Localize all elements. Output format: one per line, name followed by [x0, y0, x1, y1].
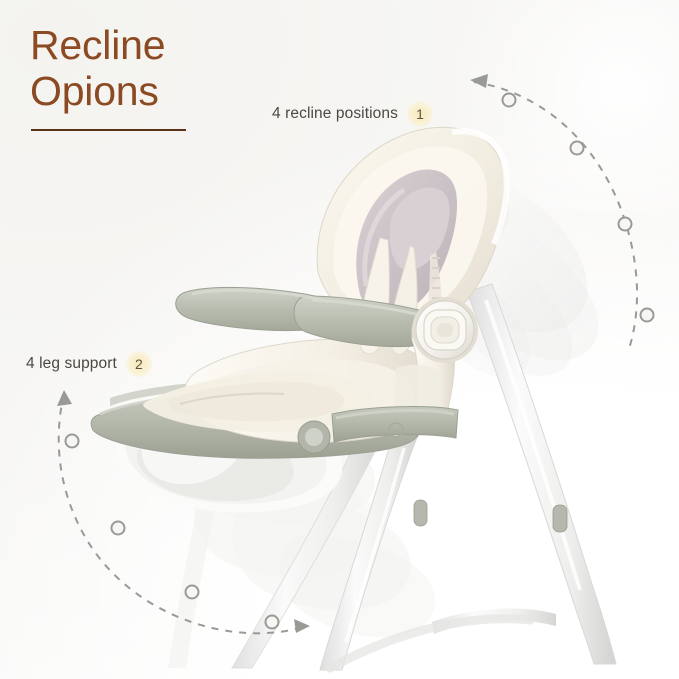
tray-pivot-joint — [298, 421, 330, 453]
callout-recline-label: 4 recline positions — [272, 105, 398, 123]
page-title: Recline Opions — [30, 22, 165, 114]
recline-hub-knob — [412, 297, 478, 363]
title-line-1: Recline — [30, 22, 165, 68]
product-feature-image: Recline Opions 4 recline positions 1 4 l… — [0, 0, 679, 679]
callout-leg-label: 4 leg support — [26, 355, 117, 373]
callout-leg-badge: 2 — [126, 351, 152, 377]
callout-recline-badge: 1 — [407, 101, 433, 127]
title-underline — [31, 129, 186, 131]
callout-recline-positions: 4 recline positions 1 — [272, 101, 433, 127]
title-line-2: Opions — [30, 68, 159, 114]
callout-leg-support: 4 leg support 2 — [26, 351, 152, 377]
frame-crossbar — [332, 407, 458, 442]
